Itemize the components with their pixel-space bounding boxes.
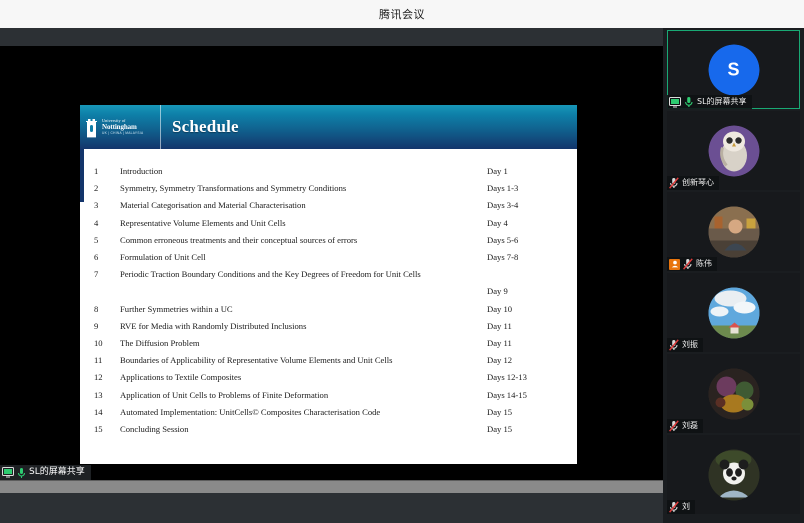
schedule-item-topic: Representative Volume Elements and Unit … — [120, 215, 487, 232]
microphone-muted-icon[interactable] — [669, 339, 679, 351]
avatar — [708, 449, 759, 500]
table-row: 6Formulation of Unit CellDays 7-8 — [94, 249, 563, 266]
schedule-item-number: 2 — [94, 180, 120, 197]
table-row: 5Common erroneous treatments and their c… — [94, 232, 563, 249]
meeting-window: 腾讯会议 — [0, 0, 804, 523]
schedule-item-topic: Concluding Session — [120, 421, 487, 438]
schedule-item-day: Day 11 — [487, 335, 563, 352]
nottingham-castle-icon — [84, 117, 99, 138]
schedule-item-day: Day 11 — [487, 318, 563, 335]
schedule-item-number: 12 — [94, 369, 120, 386]
schedule-item-topic: RVE for Media with Randomly Distributed … — [120, 318, 487, 335]
university-logo-text: University of Nottingham UK | CHINA | MA… — [102, 119, 143, 134]
schedule-item-day: Day 9 — [487, 283, 563, 300]
stage-bottom-spacer — [0, 493, 663, 523]
schedule-item-day: Day 4 — [487, 215, 563, 232]
schedule-item-topic: Automated Implementation: UnitCells© Com… — [120, 404, 487, 421]
logo-line-2: Nottingham — [102, 124, 143, 131]
schedule-item-number: 6 — [94, 249, 120, 266]
table-row: 3Material Categorisation and Material Ch… — [94, 197, 563, 214]
schedule-item-number: 5 — [94, 232, 120, 249]
table-row: 1IntroductionDay 1 — [94, 163, 563, 180]
participant-label: 刘振 — [667, 338, 703, 352]
schedule-item-topic-spacer — [120, 283, 487, 300]
microphone-icon — [17, 467, 26, 479]
participant-tile[interactable]: 刘磊 — [667, 354, 800, 433]
schedule-item-topic: Introduction — [120, 163, 487, 180]
schedule-item-day: Days 3-4 — [487, 197, 563, 214]
avatar — [708, 206, 759, 257]
schedule-item-number-spacer — [94, 283, 120, 300]
slide-title: Schedule — [161, 105, 239, 149]
microphone-muted-icon[interactable] — [669, 420, 679, 432]
schedule-item-number: 8 — [94, 301, 120, 318]
shared-screen-canvas[interactable]: University of Nottingham UK | CHINA | MA… — [0, 46, 663, 480]
microphone-icon[interactable] — [684, 96, 694, 108]
stage-top-spacer — [0, 28, 663, 46]
schedule-item-day: Day 15 — [487, 421, 563, 438]
schedule-item-number: 9 — [94, 318, 120, 335]
participant-label: 陈伟 — [667, 257, 717, 271]
participant-rail[interactable]: SSL的屏幕共享创新琴心陈伟刘振刘磊刘 — [663, 28, 804, 523]
schedule-item-topic: Material Categorisation and Material Cha… — [120, 197, 487, 214]
schedule-item-topic: Formulation of Unit Cell — [120, 249, 487, 266]
schedule-item-topic: The Diffusion Problem — [120, 335, 487, 352]
table-row: 14Automated Implementation: UnitCells© C… — [94, 404, 563, 421]
table-row: 4Representative Volume Elements and Unit… — [94, 215, 563, 232]
participant-tile[interactable]: 创新琴心 — [667, 111, 800, 190]
schedule-item-topic: Periodic Traction Boundary Conditions an… — [120, 266, 563, 283]
schedule-item-topic: Applications to Textile Composites — [120, 369, 487, 386]
table-row: 9RVE for Media with Randomly Distributed… — [94, 318, 563, 335]
logo-line-3: UK | CHINA | MALAYSIA — [102, 132, 143, 135]
schedule-item-day: Days 1-3 — [487, 180, 563, 197]
schedule-item-number: 10 — [94, 335, 120, 352]
slide-header: University of Nottingham UK | CHINA | MA… — [80, 105, 577, 149]
participant-label: 刘磊 — [667, 419, 703, 433]
schedule-table: 1IntroductionDay 12Symmetry, Symmetry Tr… — [94, 163, 563, 438]
avatar: S — [708, 44, 759, 95]
table-row: 12Applications to Textile CompositesDays… — [94, 369, 563, 386]
participant-name: SL的屏幕共享 — [697, 97, 747, 107]
table-row: 13Application of Unit Cells to Problems … — [94, 387, 563, 404]
schedule-item-topic: Application of Unit Cells to Problems of… — [120, 387, 487, 404]
slide-body: 1IntroductionDay 12Symmetry, Symmetry Tr… — [80, 149, 577, 438]
schedule-item-day: Days 7-8 — [487, 249, 563, 266]
participant-tile[interactable]: 陈伟 — [667, 192, 800, 271]
table-row: 7Periodic Traction Boundary Conditions a… — [94, 266, 563, 283]
schedule-item-number: 11 — [94, 352, 120, 369]
presentation-slide: University of Nottingham UK | CHINA | MA… — [80, 105, 577, 464]
avatar — [708, 287, 759, 338]
shared-screen-stage: University of Nottingham UK | CHINA | MA… — [0, 28, 663, 523]
screen-share-banner-label: SL的屏幕共享 — [29, 467, 85, 478]
table-row: 10The Diffusion ProblemDay 11 — [94, 335, 563, 352]
participant-label: 创新琴心 — [667, 176, 719, 190]
horizontal-scrollbar-thumb[interactable] — [0, 481, 648, 492]
participant-name: 创新琴心 — [682, 178, 714, 188]
schedule-item-number: 14 — [94, 404, 120, 421]
app-title: 腾讯会议 — [379, 6, 425, 22]
avatar-initial: S — [708, 44, 759, 95]
schedule-item-day: Days 14-15 — [487, 387, 563, 404]
participant-tile[interactable]: 刘 — [667, 435, 800, 514]
participant-label: 刘 — [667, 500, 695, 514]
table-row: 15Concluding SessionDay 15 — [94, 421, 563, 438]
avatar — [708, 368, 759, 419]
screen-share-banner: SL的屏幕共享 — [0, 465, 91, 480]
schedule-item-number: 15 — [94, 421, 120, 438]
participant-name: 刘振 — [682, 340, 698, 350]
schedule-item-number: 13 — [94, 387, 120, 404]
table-row: Day 9 — [94, 283, 563, 300]
schedule-item-topic: Symmetry, Symmetry Transformations and S… — [120, 180, 487, 197]
screen-share-icon — [2, 467, 14, 478]
table-row: 2Symmetry, Symmetry Transformations and … — [94, 180, 563, 197]
schedule-item-day: Day 10 — [487, 301, 563, 318]
schedule-item-day: Days 12-13 — [487, 369, 563, 386]
schedule-item-topic: Common erroneous treatments and their co… — [120, 232, 487, 249]
avatar — [708, 125, 759, 176]
participant-name: 刘 — [682, 502, 690, 512]
microphone-muted-icon[interactable] — [683, 258, 693, 270]
microphone-muted-icon[interactable] — [669, 501, 679, 513]
schedule-item-number: 3 — [94, 197, 120, 214]
schedule-item-day: Days 5-6 — [487, 232, 563, 249]
table-row: 11Boundaries of Applicability of Represe… — [94, 352, 563, 369]
host-badge-icon — [669, 259, 680, 270]
schedule-item-day: Day 15 — [487, 404, 563, 421]
participant-tile[interactable]: 刘振 — [667, 273, 800, 352]
schedule-item-number: 1 — [94, 163, 120, 180]
window-titlebar: 腾讯会议 — [0, 0, 804, 29]
participant-tile[interactable]: SSL的屏幕共享 — [667, 30, 800, 109]
participant-name: 刘磊 — [682, 421, 698, 431]
schedule-item-day: Day 1 — [487, 163, 563, 180]
microphone-muted-icon[interactable] — [669, 177, 679, 189]
screen-share-icon — [669, 97, 681, 108]
participant-name: 陈伟 — [696, 259, 712, 269]
participant-label: SL的屏幕共享 — [667, 95, 752, 109]
schedule-item-number: 7 — [94, 266, 120, 283]
schedule-item-day: Day 12 — [487, 352, 563, 369]
university-logo: University of Nottingham UK | CHINA | MA… — [80, 105, 161, 149]
schedule-item-number: 4 — [94, 215, 120, 232]
schedule-item-topic: Boundaries of Applicability of Represent… — [120, 352, 487, 369]
schedule-item-topic: Further Symmetries within a UC — [120, 301, 487, 318]
table-row: 8Further Symmetries within a UCDay 10 — [94, 301, 563, 318]
